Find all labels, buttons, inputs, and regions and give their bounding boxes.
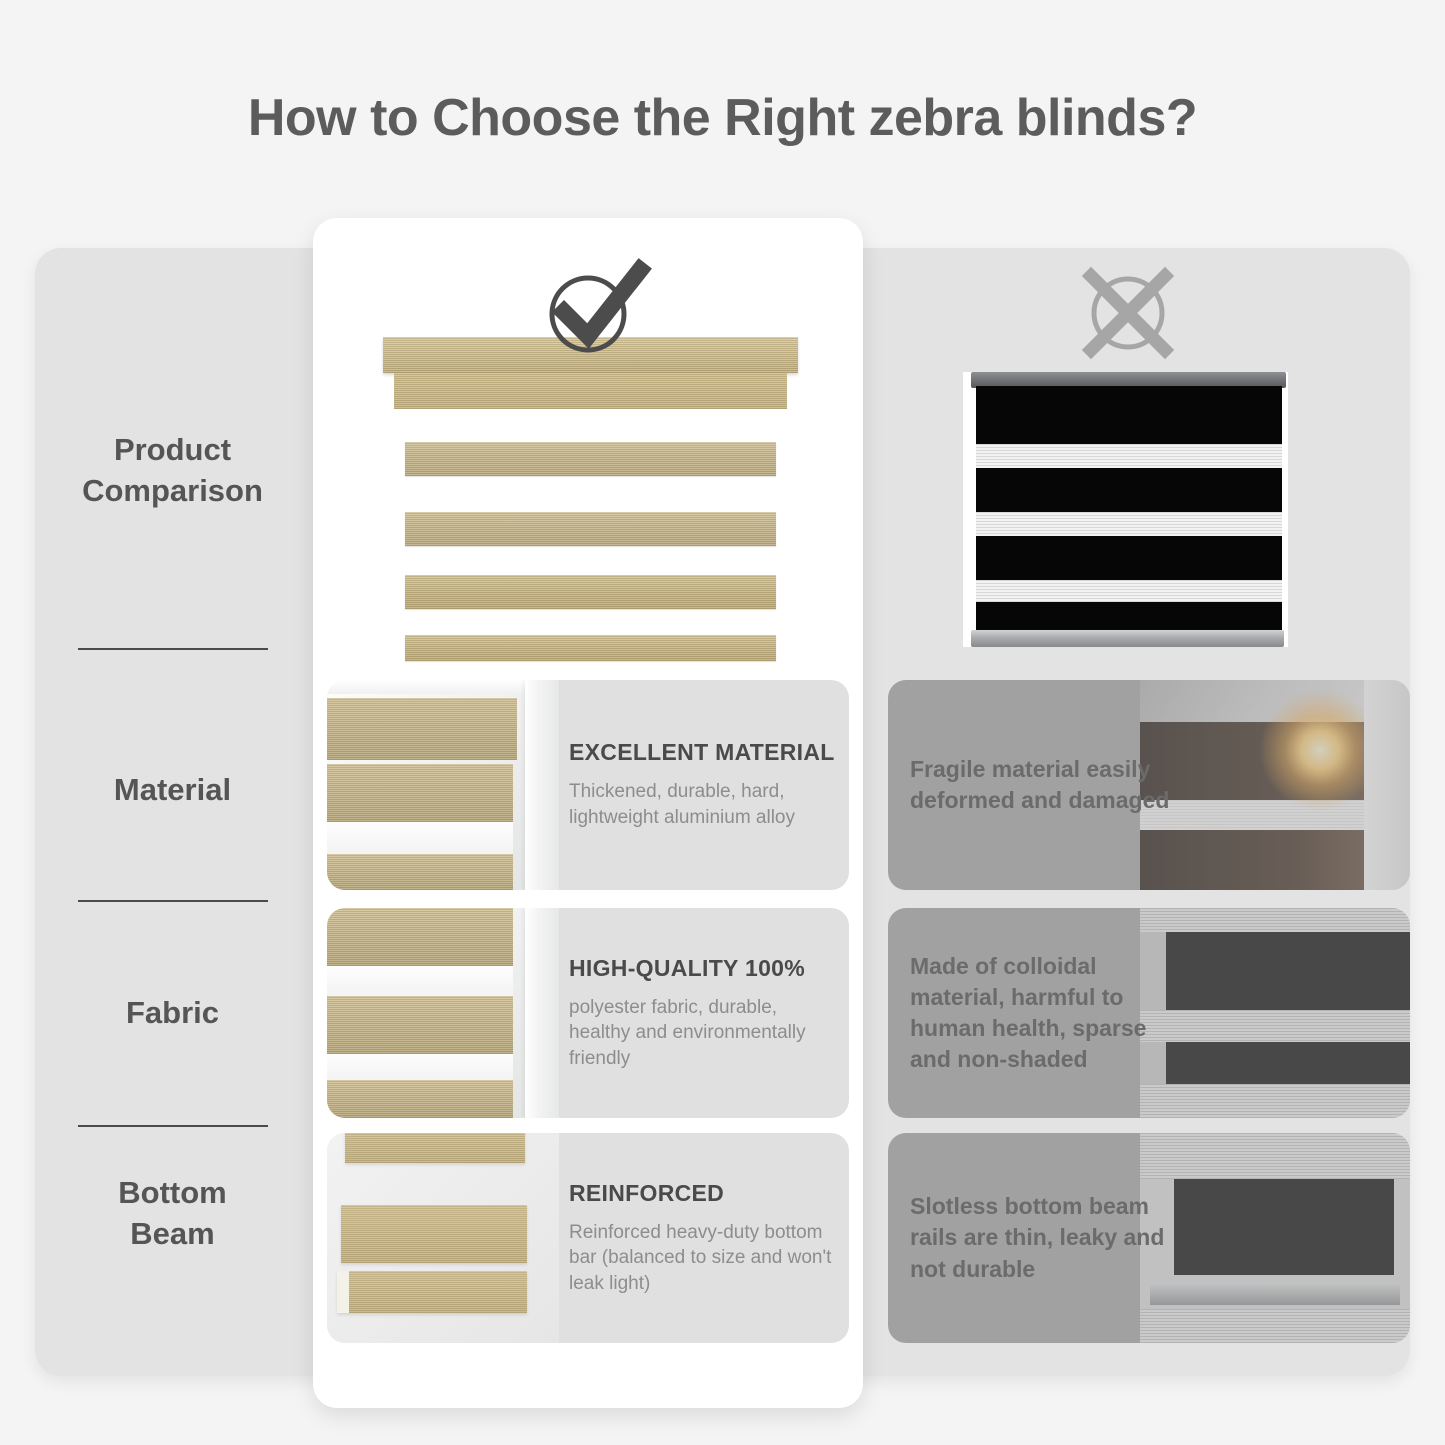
blind-slat: [405, 442, 776, 476]
tan-blind-bottom-beam-closeup-image: [327, 1133, 559, 1343]
tan-blind-fabric-closeup-image: [327, 908, 559, 1118]
feature-body: Made of colloidal material, harmful to h…: [910, 951, 1180, 1075]
row-divider-3: [78, 1125, 268, 1127]
blind-bottom-rail: [971, 630, 1284, 647]
check-circle-icon: [536, 252, 656, 357]
feature-body: Thickened, durable, hard, lightweight al…: [569, 779, 835, 830]
blind-bottom-bar: [405, 635, 776, 661]
window-light-leak-sunflare-image: [1140, 680, 1410, 890]
bad-feature-card-fabric: Made of colloidal material, harmful to h…: [888, 908, 1410, 1118]
label-line-1: Bottom: [35, 1173, 310, 1214]
feature-body: Fragile material easily deformed and dam…: [910, 754, 1180, 816]
feature-heading: EXCELLENT MATERIAL: [569, 739, 835, 766]
bad-hero-blind-image: [963, 372, 1288, 647]
category-label-column: Product Comparison Material Fabric Botto…: [35, 248, 310, 1376]
row-divider-2: [78, 900, 268, 902]
feature-heading: HIGH-QUALITY 100%: [569, 955, 835, 982]
feature-body: polyester fabric, durable, healthy and e…: [569, 995, 835, 1072]
blind-headrail-lower: [394, 373, 787, 409]
category-label-material: Material: [35, 770, 310, 811]
cross-circle-icon: [1073, 263, 1183, 363]
good-feature-card-fabric: HIGH-QUALITY 100% polyester fabric, dura…: [327, 908, 849, 1118]
page-title: How to Choose the Right zebra blinds?: [0, 88, 1445, 148]
thin-bottom-rail-closeup-image: [1140, 1133, 1410, 1343]
category-label-fabric: Fabric: [35, 993, 310, 1034]
row-divider-1: [78, 648, 268, 650]
tan-blind-window-closeup-image: [327, 680, 559, 890]
good-feature-card-material: EXCELLENT MATERIAL Thickened, durable, h…: [327, 680, 849, 890]
feature-heading: REINFORCED: [569, 1180, 835, 1207]
good-hero-blind-image: [383, 337, 798, 667]
feature-body: Slotless bottom beam rails are thin, lea…: [910, 1191, 1180, 1284]
feature-body: Reinforced heavy-duty bottom bar (balanc…: [569, 1220, 835, 1297]
black-blind-sparse-weave-image: [1140, 908, 1410, 1118]
bad-feature-card-bottom-beam: Slotless bottom beam rails are thin, lea…: [888, 1133, 1410, 1343]
label-line-1: Product: [35, 430, 310, 471]
blind-slat: [405, 575, 776, 609]
good-feature-card-bottom-beam: REINFORCED Reinforced heavy-duty bottom …: [327, 1133, 849, 1343]
blind-slat: [405, 512, 776, 546]
bad-feature-card-material: Fragile material easily deformed and dam…: [888, 680, 1410, 890]
label-line-2: Comparison: [35, 471, 310, 512]
label-line-2: Beam: [35, 1214, 310, 1255]
category-label-product-comparison: Product Comparison: [35, 430, 310, 512]
category-label-bottom-beam: Bottom Beam: [35, 1173, 310, 1255]
